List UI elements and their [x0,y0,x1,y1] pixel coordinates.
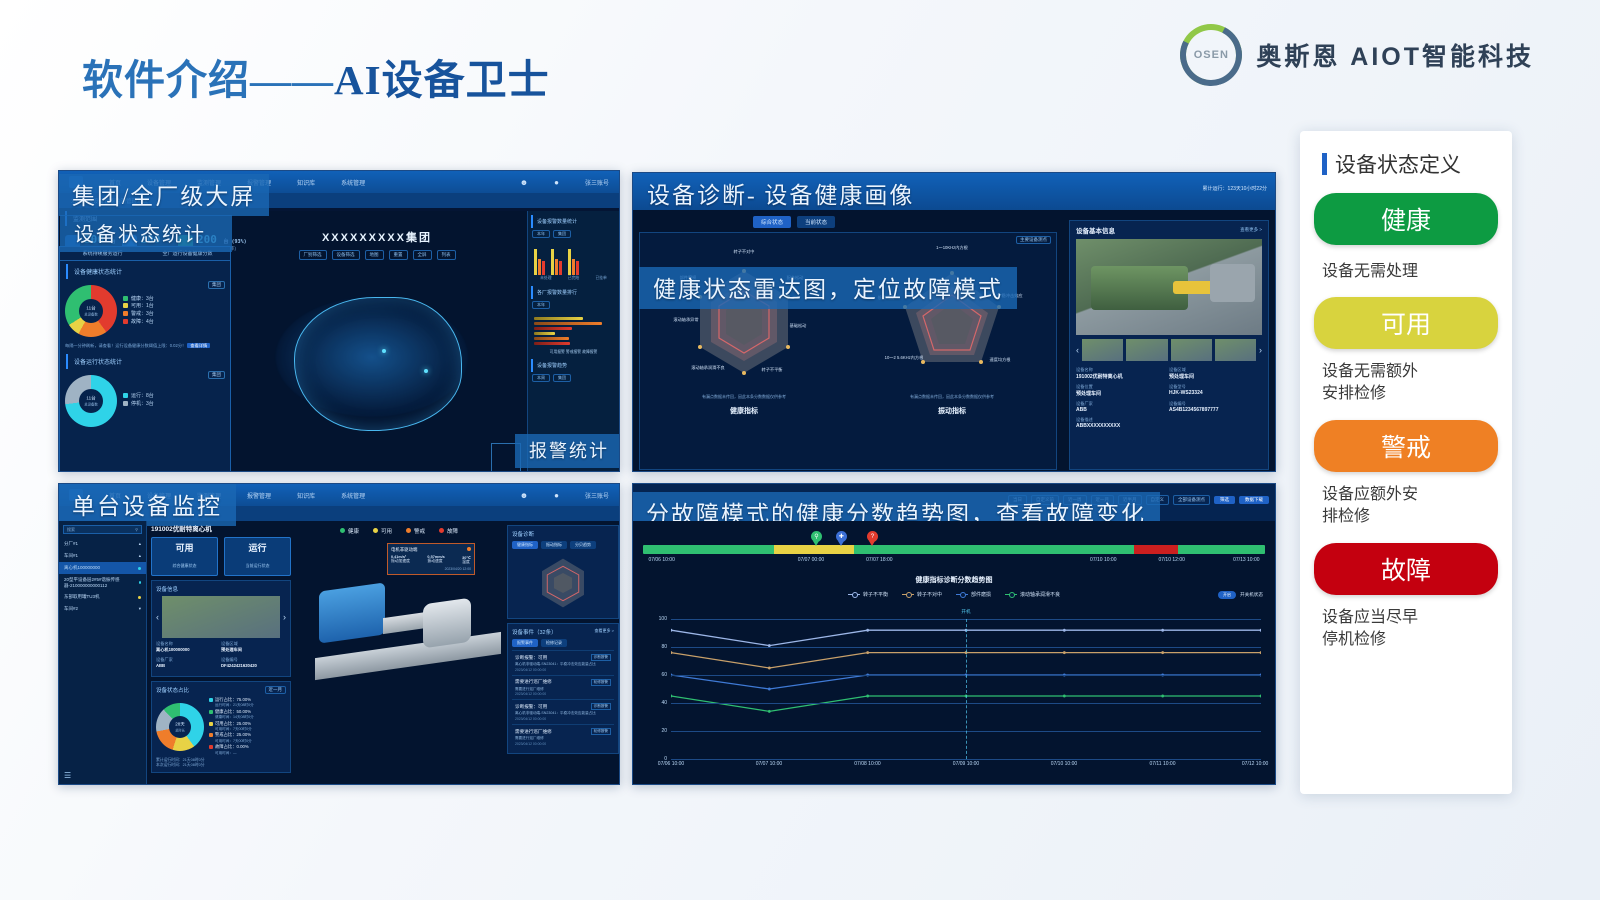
field-val-6: ABBXXXXXXXXXX [1076,423,1262,429]
point-selector[interactable]: 主要设备测点 [1016,236,1051,244]
ytick-20: 20 [661,728,667,734]
timeline-tick-5: 07/13 10:00 [1233,557,1259,563]
ytick-100: 100 [659,616,667,622]
single-body: 单台设备监控 搜索 ⚲ 分厂#1▴ 车间#1▴ 离心机100000000 20型… [59,521,619,784]
diagnosis-body: 综合状态 当前状态 主要设备测点 [633,210,1275,471]
single-diag-tab-0[interactable]: 健康指标 [512,541,538,549]
single-diag-tab-1[interactable]: 振动指标 [541,541,567,549]
health-donut-center: 11台 总设备数 [65,306,117,317]
status-desc-warning-line1: 设备应额外安 [1322,484,1498,506]
model-legend-2: 警戒 [414,529,425,535]
status-definition-header: 设备状态定义 [1300,131,1512,179]
tooltip-metric-0-label: 振动加速度 [391,559,410,563]
xtick-5: 07/11 10:00 [1149,761,1175,767]
user-icon[interactable]: ● [554,178,559,187]
device-photo [162,596,280,638]
chevron-up-icon: ▴ [139,541,141,547]
status-desc-healthy: 设备无需处理 [1322,257,1498,281]
device-summary-column: 191002优耐特离心机 可用 综合健康状态 运行 当前运行状态 设备信息 ‹ … [151,523,291,777]
run-legend: 运行：8台 停机：3台 [123,393,154,409]
health-donut-chart: 11台 总设备数 [65,285,117,337]
user-icon[interactable]: ● [554,491,559,500]
event-title-0: 诊断报警：可用 [515,655,547,661]
diagnosis-overlay-caption: 健康状态雷达图，定位故障模式 [639,267,1017,309]
run-legend-label-0: 运行 [131,393,141,399]
download-button[interactable]: 数据下载 [1239,496,1269,504]
tooltip-status-dot-icon [467,547,471,551]
brand-mark-text: OSEN [1180,49,1242,61]
chart-y-axis: 100 80 60 40 20 0 [647,619,669,759]
device-info-card: 设备信息 ‹ › 设备名称离心机100000000 设备区域预处理车间 设备厂家… [151,580,291,677]
tree-item-3[interactable]: 20型平设备层2#5#谐振传感器-210000000000112 [59,574,146,591]
s-field-val-2: ABB [156,663,221,668]
single-device-name: 191002优耐特离心机 [151,523,291,533]
radar-health-note: 有漏点数据未传回，因此本条分数数据仅供参考 [679,394,809,400]
group-screen-caption: 集团/全厂级大屏 [58,174,269,216]
radar-vib-axis-0: 1～10KHz内方根 [931,245,973,250]
alarm-rank-legend: 可用报警 警戒报警 故障报警 [528,350,619,355]
device-info-box[interactable]: 设备基本信息 查看更多 > ‹ › 设备名称191002优耐特离心机 设备区域预… [1069,220,1269,470]
status-item-healthy: 健康 设备无需处理 [1300,179,1512,281]
radar-vib-axis-2: 速度均方根 [979,357,1021,362]
event-desc-1: 需要进行巡厂维修 [515,687,611,692]
status-desc-fault-line2: 停机检修 [1322,629,1498,651]
status-dot-icon [138,596,141,599]
single-diag-tab-2[interactable]: 分贝趋势 [570,541,596,549]
status-pill-healthy: 健康 [1314,193,1498,245]
page-title-emphasis: AI设备卫士 [334,57,550,103]
alarm-count-filter-1[interactable]: 集团 [553,230,571,238]
event-tag-3: 轮修报警 [591,728,611,735]
timeline-ticks: 07/06 10:00 07/07 00:00 07/07 18:00 07/1… [643,557,1265,569]
legend-2: 部件磨损 [971,591,991,598]
alarm-overlay-caption: 报警统计 [515,434,620,468]
ratio-footer-2: 本次运行时间：21天08时0分 [156,763,286,768]
bell-icon[interactable]: ☻ [520,178,528,187]
field-val-3: HJK-WS23324 [1169,390,1262,396]
status-desc-fault-line1: 设备应当尽早 [1322,607,1498,629]
alarm-trend-filter-1[interactable]: 集团 [553,374,571,382]
timeline-pin-wave-icon[interactable]: ✚ [836,531,847,542]
status-desc-warning-line2: 排检修 [1322,506,1498,528]
timeline-pin-inspect-icon[interactable]: ⚲ [811,531,822,542]
next-photo-icon[interactable]: › [283,612,286,622]
ratio-range-select[interactable]: 近一月 [265,686,287,694]
status-dot-icon [139,581,141,584]
chart-annotation-label: 开机 [961,609,970,615]
alarm-count-title: 设备报警数量统计 [531,215,616,228]
device-photo-thumbnails[interactable]: ‹ › [1076,339,1262,361]
model-legend-1: 可用 [381,529,392,535]
event-time-0: 2023/04/12 00:00:00 [515,668,611,672]
health-note-button[interactable]: 查看详情 [187,343,210,348]
device-info-more[interactable]: 查看更多 > [1240,227,1262,233]
prev-photo-icon[interactable]: ‹ [1076,345,1079,355]
chevron-up-icon: ▴ [139,553,141,559]
status-ratio-card: 设备状态占比 近一月 28天 总时长 运行占比：75.00%运行时间：21天08… [151,681,291,773]
alarm-rank-filter[interactable]: 本年 [532,301,550,309]
event-time-1: 2023/04/12 00:00:00 [515,692,611,696]
ytick-60: 60 [661,672,667,678]
status-pill-fault: 故障 [1314,543,1498,595]
radar-health-caption: 健康指标 [679,406,809,416]
timeline-seg-0 [643,545,774,554]
timeline-bar[interactable] [643,545,1265,554]
status-item-available: 可用 设备无需额外 安排检修 [1300,281,1512,404]
health-legend-value-0: 3台 [146,296,154,302]
screenshot-single-device[interactable]: 首页 设备管理 监测管理 报警管理 知识库 系统管理 ☻ ● 张三账号 · · … [58,483,620,785]
single-nav-item-5[interactable]: 系统管理 [341,491,365,500]
run-legend-label-1: 停机 [131,401,141,407]
event-tag-2: 诊断报警 [591,703,611,710]
field-val-4: ABB [1076,407,1169,413]
timeline-pin-alarm-icon[interactable]: ? [867,531,878,542]
event-desc-3: 需要进行巡厂维修 [515,736,611,741]
legend-0: 转子不平衡 [863,591,888,598]
radar-vib-note: 有漏点数据未传回，因此本条分数数据仅供参考 [887,394,1017,400]
status-ratio-donut: 28天 总时长 [156,703,204,751]
china-map-area[interactable]: XXXXXXXXX集团 厂别筛选 设备筛选 地图 重置 全屏 列表 [227,229,527,472]
tree-item-4[interactable]: 东部取用罐TU3机 [59,591,146,603]
chart-plot-area: 100 80 60 40 20 0 开机 07/06 10:00 [671,619,1261,759]
event-time-3: 2023/04/12 00:00:00 [515,742,611,746]
alarm-rank-filter-row[interactable]: 本年 [528,301,619,312]
map-btn-5[interactable]: 列表 [437,250,456,260]
alarm-count-filter-0[interactable]: 本年 [532,230,550,238]
ratio-label-2: 可用占比 [215,721,232,726]
map-buttons[interactable]: 厂别筛选 设备筛选 地图 重置 全屏 列表 [227,250,527,260]
device-events-card[interactable]: 设备事件（32条） 查看更多 > 报警事件 检修记录 诊断报警：可用诊断报警 离… [507,623,619,754]
next-photo-icon[interactable]: › [1259,345,1262,355]
status-card-health-value: 可用 [152,541,217,554]
event-row[interactable]: 诊断报警：可用诊断报警 离心机非驱动端-SN23041：平稳冲击效应能量占比 2… [512,650,614,675]
tooltip-time: 2023/04/20 12:00 [391,567,471,571]
alarm-count-bar-chart [528,241,619,275]
map-btn-0[interactable]: 厂别筛选 [299,250,327,260]
health-legend-value-3: 4台 [146,319,154,325]
search-placeholder: 搜索 [67,527,75,533]
timeline-tick-0: 07/06 10:00 [648,557,674,563]
status-card-health: 可用 综合健康状态 [151,537,218,576]
timeline-seg-4 [1178,545,1265,554]
model-legend-3: 故障 [447,529,458,535]
alarm-rank-title: 各厂报警数量排行 [531,286,616,299]
health-scope-select[interactable]: 集团 [208,281,225,289]
event-desc-0: 离心机非驱动端-SN23041：平稳冲击效应能量占比 [515,662,611,667]
radar-health-axis-3: 转子不平衡 [751,367,793,372]
device-status-stats-block[interactable]: 设备状态统计 系统持续服务运行 全厂运行设备健康分数 设备健康状态统计 集团 1… [59,246,231,472]
alarm-stats-column[interactable]: 设备报警数量统计 本年 集团 未处理 已完结 已挂单 各厂报警数量排行 本年 [527,211,619,472]
diagnosis-tab-1[interactable]: 当前状态 [797,216,835,228]
map-btn-4[interactable]: 全屏 [413,250,432,260]
timeline-tick-4: 07/10 12:00 [1158,557,1184,563]
timeline-seg-2 [854,545,1134,554]
model-legend-0: 健康 [348,529,359,535]
diagnosis-runtime: 累计运行：123天10小时22分 [1203,185,1267,192]
alarm-cat-2: 已挂单 [595,276,606,281]
brand-logo: OSEN 奥斯恩 AIOT智能科技 [1180,24,1534,86]
single-nav-user[interactable]: 张三账号 [585,491,609,500]
alarm-legend-2: 故障报警 [582,350,597,354]
thumbnail-0[interactable] [1082,339,1123,361]
alarm-legend-1: 警戒报警 [566,350,581,354]
health-legend-label-2: 警戒 [131,311,141,317]
events-tab-1[interactable]: 检修记录 [541,639,567,647]
event-desc-2: 离心机非驱动端-SN23041：平稳冲击效应能量占比 [515,711,611,716]
ratio-card-title: 设备状态占比 [156,686,189,694]
run-scope-select[interactable]: 集团 [208,371,225,379]
status-card-run-label: 当前运行状态 [246,563,270,568]
ytick-80: 80 [661,644,667,650]
event-time-2: 2023/04/12 00:00:00 [515,717,611,721]
ytick-40: 40 [661,700,667,706]
status-card-health-label: 综合健康状态 [173,563,197,568]
chart-title: 健康指标诊断分数趋势图 [645,575,1263,585]
switch-label: 开关机状态 [1240,592,1263,598]
legend-1: 转子不对中 [917,591,942,598]
alarm-trend-filter-0[interactable]: 本周 [532,374,550,382]
ratio-value-0: 75.00% [236,697,251,702]
events-more[interactable]: 查看更多 > [595,628,614,636]
bell-icon[interactable]: ☻ [520,491,528,500]
switch-pill[interactable]: 开启 [1218,591,1236,599]
tree-item-5[interactable]: 车间#2▾ [59,603,146,615]
ratio-label-4: 故障占比 [215,744,232,749]
alarm-cat-0: 未处理 [540,276,551,281]
radar-vib-axis-3: 10～2 5.6KHz内方根 [883,355,925,360]
status-desc-available-line1: 设备无需额外 [1322,361,1498,383]
trend-chip-6[interactable]: 全部设备测点 [1173,495,1210,505]
ratio-sub-4: 可用时间：— [215,751,254,756]
run-legend-value-0: 8台 [146,393,154,399]
device-info-fields: 设备名称191002优耐特离心机 设备区域预处理车间 设备位置预处理车间 设备型… [1070,365,1268,435]
single-right-panel[interactable]: 设备诊断 健康指标 振动指标 分贝趋势 设备事件（32条） 查看更多 > [507,525,619,780]
trend-body: ⚲ ✚ ? 07/06 10:00 07/07 00:00 07/07 18:0… [633,521,1275,784]
xtick-0: 07/06 10:00 [658,761,684,767]
osen-ring-icon: OSEN [1180,24,1242,86]
china-map-shape [247,265,507,465]
radar-health-axis-5: 滚动轴承异常 [665,317,707,322]
run-legend-value-1: 3台 [146,401,154,407]
ratio-label-0: 运行占比 [215,697,232,702]
alarm-legend-0: 可用报警 [550,350,565,354]
field-val-1: 预处理车间 [1169,373,1262,380]
status-dot-icon [138,567,141,570]
device-info-title: 设备基本信息 [1076,225,1115,235]
alarm-trend-filters[interactable]: 本周 集团 [528,374,619,385]
device-photo [1076,239,1262,335]
screenshot-group-dashboard[interactable]: 首页 设备管理 监测管理 报警管理 知识库 系统管理 ☻ ● 张三账号 XXXX… [58,170,620,472]
status-definition-card: 设备状态定义 健康 设备无需处理 可用 设备无需额外 安排检修 警戒 设备应额外… [1300,131,1512,794]
page-title: 软件介绍——AI设备卫士 [82,46,550,106]
events-tabs[interactable]: 报警事件 检修记录 [512,639,614,647]
run-donut-row: 11台 总设备数 运行：8台 停机：3台 [60,371,208,431]
alarm-cat-1: 已完结 [568,276,579,281]
status-ratio-legend: 运行占比：75.00%运行时间：21天08时0分 健康占比：50.00%健康时间… [209,697,254,756]
thumbnail-1[interactable] [1126,339,1167,361]
screenshot-device-diagnosis[interactable]: 设备诊断- 设备健康画像 累计运行：123天10小时22分 综合状态 当前状态 … [632,172,1276,472]
model-legend: 健康 可用 警戒 故障 [295,527,503,535]
tree-search[interactable]: 搜索 ⚲ [63,525,142,534]
map-btn-1[interactable]: 设备筛选 [332,250,360,260]
single-screen-caption: 单台设备监控 [58,484,236,526]
legend-3: 滚动轴承润滑不良 [1020,591,1060,598]
screenshot-health-trend[interactable]: 当日 自定义前 近一周 近一月 近半月 自定义 全部设备测点 筛选 数据下载 分… [632,483,1276,785]
map-btn-2[interactable]: 地图 [365,250,384,260]
status-pill-warning: 警戒 [1314,420,1498,472]
ratio-value-3: 25.00% [236,732,251,737]
chart-legend[interactable]: 转子不平衡 转子不对中 部件磨损 滚动轴承润滑不良 [645,591,1263,598]
ratio-value-1: 50.00% [236,709,251,714]
status-definition-title: 设备状态定义 [1335,149,1461,179]
single-diag-card: 设备诊断 健康指标 振动指标 分贝趋势 [507,525,619,619]
status-timeline[interactable]: ⚲ ✚ ? 07/06 10:00 07/07 00:00 07/07 18:0… [633,521,1275,569]
diagnosis-title: 设备诊断- 设备健康画像 [633,173,928,215]
health-donut-row: 11台 总设备数 健康：3台 可用：1台 警戒：3台 故障：4台 [60,281,208,341]
status-item-fault: 故障 设备应当尽早 停机检修 [1300,527,1512,650]
timeline-seg-1 [774,545,855,554]
radar-charts-box: 主要设备测点 转子不对 [639,232,1057,470]
nav-user[interactable]: 张三账号 [585,178,609,187]
timeline-tick-2: 07/07 18:00 [866,557,892,563]
device-tree[interactable]: 搜索 ⚲ 分厂#1▴ 车间#1▴ 离心机100000000 20型平设备层2#5… [59,521,147,784]
prev-photo-icon[interactable]: ‹ [156,612,159,622]
collapse-icon[interactable]: ☰ [64,771,71,780]
brand-name: 奥斯恩 AIOT智能科技 [1256,37,1534,73]
xtick-3: 07/09 10:00 [953,761,979,767]
thumbnail-3[interactable] [1215,339,1256,361]
event-row[interactable]: 诊断报警：可用诊断报警 离心机非驱动端-SN23041：平稳冲击效应能量占比 2… [512,699,614,724]
status-item-warning: 警戒 设备应额外安 排检修 [1300,404,1512,527]
alarm-count-filters[interactable]: 本年 集团 [528,230,619,241]
ratio-center-label: 总时长 [156,727,204,732]
health-legend-label-3: 故障 [131,319,141,325]
ratio-label-1: 健康占比 [215,709,232,714]
pump-3d-model[interactable] [319,575,499,685]
field-val-0: 191002优耐特离心机 [1076,373,1169,380]
health-section-title: 设备健康状态统计 [66,264,224,279]
timeline-tick-1: 07/07 00:00 [798,557,824,563]
nav-item-5[interactable]: 系统管理 [341,178,365,187]
single-diag-title: 设备诊断 [512,530,614,538]
thumbnail-2[interactable] [1171,339,1212,361]
chart-x-axis: 07/06 10:00 07/07 10:00 07/08 10:00 07/0… [671,761,1261,773]
tooltip-metric-1-label: 振动速度 [427,559,442,563]
diagnosis-tabs[interactable]: 综合状态 当前状态 [753,212,835,232]
status-cards: 可用 综合健康状态 运行 当前运行状态 [151,537,291,576]
map-btn-3[interactable]: 重置 [389,250,408,260]
event-row[interactable]: 需要进行巡厂维修轮修报警 需要进行巡厂维修 2023/04/12 00:00:0… [512,724,614,749]
mini-radar-chart [513,552,613,614]
info-card-title: 设备信息 [156,585,286,593]
page-title-plain: 软件介绍—— [82,57,334,103]
radar-vib-caption: 振动指标 [887,406,1017,416]
health-legend-label-0: 健康 [131,296,141,302]
xtick-2: 07/08 10:00 [854,761,880,767]
power-switch-toggle[interactable]: 开启 开关机状态 [1218,591,1263,599]
s-field-val-3: DF4242421620420 [221,663,286,668]
single-nav-item-4[interactable]: 知识库 [297,491,315,500]
map-title: XXXXXXXXX集团 [227,229,527,245]
run-section-title: 设备运行状态统计 [66,354,224,369]
health-legend: 健康：3台 可用：1台 警戒：3台 故障：4台 [123,296,154,327]
health-trend-chart: 健康指标诊断分数趋势图 转子不平衡 转子不对中 部件磨损 滚动轴承润滑不良 开启… [645,575,1263,775]
ratio-label-3: 警戒占比 [215,732,232,737]
event-tag-1: 轮修报警 [591,679,611,686]
radar-health-axis-4: 滚动轴承润滑不良 [687,365,729,370]
status-card-run: 运行 当前运行状态 [224,537,291,576]
status-pill-available: 可用 [1314,297,1498,349]
s-field-val-0: 离心机100000000 [156,647,221,653]
xtick-6: 07/12 10:00 [1242,761,1268,767]
health-legend-value-1: 1台 [146,303,154,309]
tree-item-0[interactable]: 分厂#1▴ [59,538,146,550]
single-diag-tabs[interactable]: 健康指标 振动指标 分贝趋势 [512,541,614,549]
ratio-value-4: 0.00% [236,744,248,749]
alarm-rank-bar-chart [528,312,619,350]
event-tag-0: 诊断报警 [591,654,611,661]
event-title-2: 诊断报警：可用 [515,704,547,710]
run-donut-center: 11台 总设备数 [65,396,117,407]
run-donut-chart: 11台 总设备数 [65,375,117,427]
search-icon[interactable]: ⚲ [135,527,138,532]
events-title: 设备事件（32条） [512,628,557,636]
filter-button[interactable]: 筛选 [1214,496,1235,504]
ratio-value-2: 25.00% [236,721,251,726]
field-val-2: 预处理车间 [1076,390,1169,397]
radar-health-axis-0: 转子不对中 [723,249,765,254]
alarm-trend-title: 设备报警趋势 [531,359,616,372]
s-field-val-1: 预处理车间 [221,647,286,653]
device-info-header: 设备基本信息 查看更多 > [1070,221,1268,239]
timeline-tick-3: 07/10 10:00 [1090,557,1116,563]
timeline-pins[interactable]: ⚲ ✚ ? [643,531,1265,545]
tooltip-metric-2-label: 温度 [462,560,470,564]
field-val-5: AS4B1234567897777 [1169,407,1262,413]
status-desc-available-line2: 安排检修 [1322,383,1498,405]
sensor-tooltip: 电机非驱动端 0.41m/s²振动加速度 0.57mm/s振动速度 30℃温度 … [387,543,475,575]
events-tab-0[interactable]: 报警事件 [512,639,538,647]
health-legend-value-2: 3台 [146,311,154,317]
radar-health-axis-2: 基础松动 [777,323,819,328]
tooltip-title: 电机非驱动端 [391,547,417,553]
health-legend-label-1: 可用 [131,303,141,309]
event-title-1: 需要进行巡厂维修 [515,679,552,685]
nav-item-4[interactable]: 知识库 [297,178,315,187]
alarm-count-xlabels: 未处理 已完结 已挂单 [528,275,619,282]
timeline-seg-3 [1134,545,1178,554]
tree-item-2[interactable]: 离心机100000000 [59,562,146,574]
single-nav-item-3[interactable]: 报警管理 [247,491,271,500]
device-3d-model-area[interactable]: 健康 可用 警戒 故障 电机非驱动端 0.41m/s²振动加速度 0.57mm/… [295,527,503,780]
status-card-run-value: 运行 [225,541,290,554]
chevron-down-icon: ▾ [139,606,141,612]
xtick-4: 07/10 10:00 [1051,761,1077,767]
tree-item-1[interactable]: 车间#1▴ [59,550,146,562]
event-row[interactable]: 需要进行巡厂维修轮修报警 需要进行巡厂维修 2023/04/12 00:00:0… [512,675,614,700]
group-body: 监测范围 200 台 已接入设备 200 个 已接入测点 200 台 (93%)… [59,211,619,472]
xtick-1: 07/07 10:00 [756,761,782,767]
accent-bar-icon [1322,153,1327,175]
stats-overlay-caption: 设备状态统计 [60,215,232,252]
diagnosis-tab-0[interactable]: 综合状态 [753,216,791,228]
event-title-3: 需要进行巡厂维修 [515,729,552,735]
health-note: 每隔一分钟刷新，请查看！运行设备健康分数阈值上限：0.02分！ 查看详情 [60,341,230,351]
